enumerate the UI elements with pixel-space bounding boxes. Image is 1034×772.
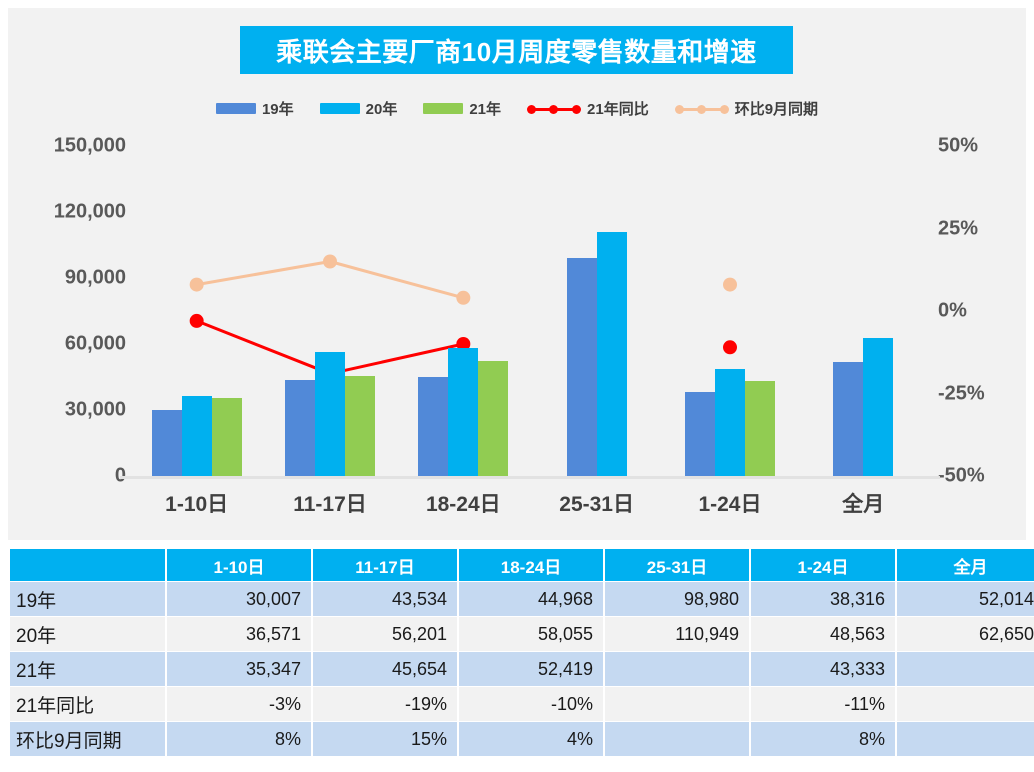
table-cell bbox=[897, 687, 1034, 721]
y-tick-right: -50% bbox=[938, 465, 1028, 488]
y-tick-left: 120,000 bbox=[16, 201, 126, 224]
legend-label: 20年 bbox=[366, 98, 398, 119]
x-axis-label: 25-31日 bbox=[530, 488, 663, 528]
chart-title: 乘联会主要厂商10月周度零售数量和增速 bbox=[240, 26, 793, 74]
table-cell: 30,007 bbox=[167, 582, 311, 616]
data-table-wrap: 1-10日11-17日18-24日25-31日1-24日全月 19年30,007… bbox=[8, 548, 1034, 764]
table-row: 20年36,57156,20158,055110,94948,56362,650 bbox=[10, 617, 1034, 651]
table-cell: 35,347 bbox=[167, 652, 311, 686]
table-row-label: 19年 bbox=[10, 582, 165, 616]
legend-label: 19年 bbox=[262, 98, 294, 119]
table-row: 环比9月同期8%15%4%8% bbox=[10, 722, 1034, 756]
y-tick-left: 30,000 bbox=[16, 399, 126, 422]
table-cell: 38,316 bbox=[751, 582, 895, 616]
x-axis-labels: 1-10日11-17日18-24日25-31日1-24日全月 bbox=[130, 488, 930, 528]
y-tick-right: 0% bbox=[938, 300, 1028, 323]
legend-item-环比9月同期[interactable]: 环比9月同期 bbox=[675, 98, 818, 119]
bar-group bbox=[530, 146, 663, 476]
table-cell: 48,563 bbox=[751, 617, 895, 651]
legend-swatch-icon bbox=[216, 103, 256, 114]
x-axis-label: 18-24日 bbox=[397, 488, 530, 528]
legend-item-21年[interactable]: 21年 bbox=[423, 98, 501, 119]
table-cell: 98,980 bbox=[605, 582, 749, 616]
plot-area bbox=[130, 146, 930, 476]
legend-item-21年同比[interactable]: 21年同比 bbox=[527, 98, 649, 119]
table-cell: 44,968 bbox=[459, 582, 603, 616]
table-body: 19年30,00743,53444,96898,98038,31652,0142… bbox=[10, 582, 1034, 756]
table-header-cell: 11-17日 bbox=[313, 549, 457, 581]
table-cell bbox=[897, 722, 1034, 756]
table-cell: 43,333 bbox=[751, 652, 895, 686]
y-tick-left: 60,000 bbox=[16, 333, 126, 356]
table-cell: 45,654 bbox=[313, 652, 457, 686]
legend-label: 21年同比 bbox=[587, 98, 649, 119]
bar-21年[interactable] bbox=[212, 398, 242, 476]
table-row-label: 21年 bbox=[10, 652, 165, 686]
y-tick-left: 150,000 bbox=[16, 135, 126, 158]
table-cell: 8% bbox=[751, 722, 895, 756]
table-row: 21年同比-3%-19%-10%-11% bbox=[10, 687, 1034, 721]
table-header-corner bbox=[10, 549, 165, 581]
table-cell bbox=[605, 652, 749, 686]
bar-21年[interactable] bbox=[478, 361, 508, 476]
table-header-cell: 1-24日 bbox=[751, 549, 895, 581]
y-axis-right: 50%25%0%-25%-50% bbox=[938, 146, 1028, 476]
bar-20年[interactable] bbox=[315, 352, 345, 476]
bar-19年[interactable] bbox=[567, 258, 597, 476]
table-cell: 58,055 bbox=[459, 617, 603, 651]
bar-20年[interactable] bbox=[863, 338, 893, 476]
bar-20年[interactable] bbox=[597, 232, 627, 476]
table-cell: 110,949 bbox=[605, 617, 749, 651]
y-tick-right: 25% bbox=[938, 217, 1028, 240]
bar-20年[interactable] bbox=[715, 369, 745, 476]
table-row-label: 21年同比 bbox=[10, 687, 165, 721]
plot-region: 150,000120,00090,00060,00030,0000 50%25%… bbox=[8, 136, 1026, 540]
y-tick-left: 0 bbox=[16, 465, 126, 488]
table-row: 19年30,00743,53444,96898,98038,31652,014 bbox=[10, 582, 1034, 616]
x-axis-label: 1-10日 bbox=[130, 488, 263, 528]
bar-19年[interactable] bbox=[152, 410, 182, 476]
chart-page: 乘联会主要厂商10月周度零售数量和增速 19年20年21年21年同比环比9月同期… bbox=[0, 0, 1034, 772]
bar-20年[interactable] bbox=[182, 396, 212, 476]
y-axis-left: 150,000120,00090,00060,00030,0000 bbox=[16, 146, 126, 476]
table-cell: 62,650 bbox=[897, 617, 1034, 651]
x-axis-label: 11-17日 bbox=[263, 488, 396, 528]
table-header-row: 1-10日11-17日18-24日25-31日1-24日全月 bbox=[10, 549, 1034, 581]
bar-19年[interactable] bbox=[285, 380, 315, 476]
table-cell: -3% bbox=[167, 687, 311, 721]
bar-21年[interactable] bbox=[345, 376, 375, 476]
table-cell: 8% bbox=[167, 722, 311, 756]
bar-19年[interactable] bbox=[833, 362, 863, 476]
bar-group bbox=[397, 146, 530, 476]
bar-19年[interactable] bbox=[685, 392, 715, 476]
table-cell: 52,419 bbox=[459, 652, 603, 686]
bar-19年[interactable] bbox=[418, 377, 448, 476]
table-header-cell: 25-31日 bbox=[605, 549, 749, 581]
table-header-cell: 全月 bbox=[897, 549, 1034, 581]
table-cell bbox=[605, 722, 749, 756]
table-cell: 43,534 bbox=[313, 582, 457, 616]
bar-group bbox=[263, 146, 396, 476]
bar-group bbox=[663, 146, 796, 476]
legend-label: 21年 bbox=[469, 98, 501, 119]
table-cell bbox=[605, 687, 749, 721]
table-cell: -19% bbox=[313, 687, 457, 721]
legend-line-icon bbox=[675, 102, 729, 116]
table-cell: 36,571 bbox=[167, 617, 311, 651]
y-tick-right: 50% bbox=[938, 135, 1028, 158]
y-tick-right: -25% bbox=[938, 382, 1028, 405]
table-header-cell: 1-10日 bbox=[167, 549, 311, 581]
legend-label: 环比9月同期 bbox=[735, 98, 818, 119]
legend-item-19年[interactable]: 19年 bbox=[216, 98, 294, 119]
legend-swatch-icon bbox=[423, 103, 463, 114]
x-axis-label: 全月 bbox=[797, 488, 930, 528]
legend-item-20年[interactable]: 20年 bbox=[320, 98, 398, 119]
axis-baseline bbox=[120, 476, 940, 479]
table-row: 21年35,34745,65452,41943,333 bbox=[10, 652, 1034, 686]
legend-line-icon bbox=[527, 102, 581, 116]
table-cell bbox=[897, 652, 1034, 686]
table-header-cell: 18-24日 bbox=[459, 549, 603, 581]
bar-group bbox=[130, 146, 263, 476]
data-table: 1-10日11-17日18-24日25-31日1-24日全月 19年30,007… bbox=[8, 548, 1034, 757]
chart-legend: 19年20年21年21年同比环比9月同期 bbox=[8, 98, 1026, 119]
table-cell: 52,014 bbox=[897, 582, 1034, 616]
bar-group bbox=[797, 146, 930, 476]
table-row-label: 环比9月同期 bbox=[10, 722, 165, 756]
bar-21年[interactable] bbox=[745, 381, 775, 476]
chart-panel: 乘联会主要厂商10月周度零售数量和增速 19年20年21年21年同比环比9月同期… bbox=[8, 8, 1026, 540]
table-cell: -11% bbox=[751, 687, 895, 721]
y-tick-left: 90,000 bbox=[16, 267, 126, 290]
table-cell: 15% bbox=[313, 722, 457, 756]
bar-20年[interactable] bbox=[448, 348, 478, 476]
table-cell: -10% bbox=[459, 687, 603, 721]
x-axis-label: 1-24日 bbox=[663, 488, 796, 528]
legend-swatch-icon bbox=[320, 103, 360, 114]
table-cell: 56,201 bbox=[313, 617, 457, 651]
table-row-label: 20年 bbox=[10, 617, 165, 651]
table-cell: 4% bbox=[459, 722, 603, 756]
